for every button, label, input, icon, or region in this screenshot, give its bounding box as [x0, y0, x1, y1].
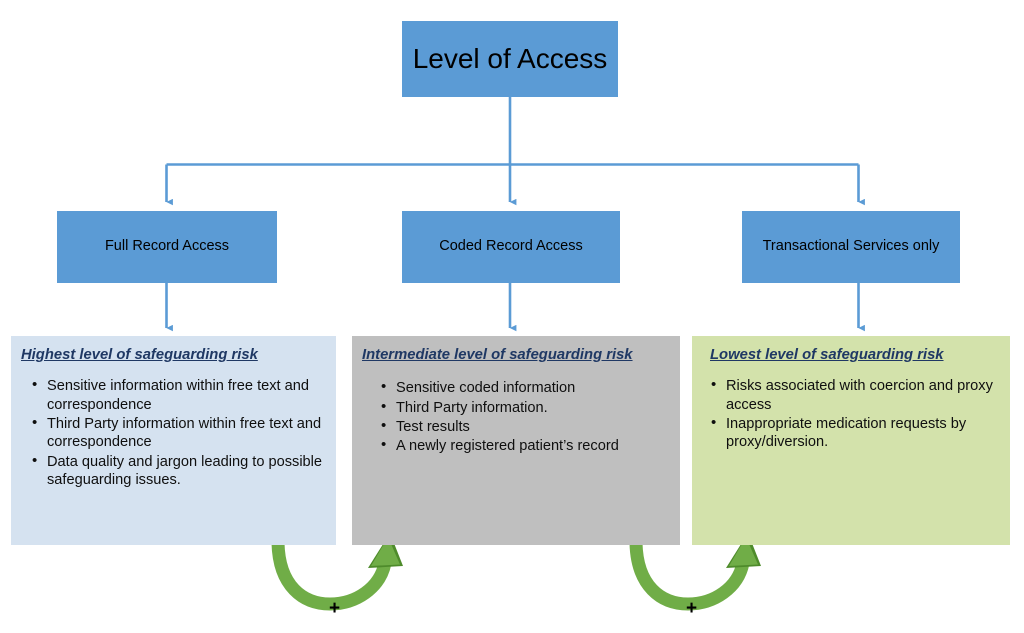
- level-box-label: Coded Record Access: [439, 238, 582, 255]
- level-box-label: Full Record Access: [105, 238, 229, 255]
- risk-bullet-list: Sensitive information within free text a…: [21, 377, 326, 489]
- risk-panel-heading: Intermediate level of safeguarding risk: [362, 346, 670, 365]
- risk-panel-lowest: Lowest level of safeguarding risk Risks …: [692, 336, 1010, 545]
- list-item: Data quality and jargon leading to possi…: [47, 453, 326, 490]
- list-item: Inappropriate medication requests by pro…: [726, 415, 1000, 452]
- level-box-transactional-services-only: Transactional Services only: [742, 211, 960, 283]
- risk-bullet-list: Risks associated with coercion and proxy…: [702, 377, 1000, 452]
- list-item: Sensitive coded information: [396, 379, 670, 397]
- list-item: Test results: [396, 418, 670, 436]
- risk-panel-intermediate: Intermediate level of safeguarding risk …: [352, 336, 680, 545]
- level-box-label: Transactional Services only: [763, 238, 940, 255]
- cumulative-plus-marker-1: +: [329, 599, 340, 618]
- risk-panel-heading: Lowest level of safeguarding risk: [710, 346, 1000, 365]
- risk-bullet-list: Sensitive coded information Third Party …: [362, 379, 670, 456]
- risk-panel-highest: Highest level of safeguarding risk Sensi…: [11, 336, 336, 545]
- list-item: Third Party information.: [396, 399, 670, 417]
- diagram-canvas: Level of Access Full Record Access Coded…: [0, 0, 1024, 633]
- cumulative-plus-marker-2: +: [686, 599, 697, 618]
- risk-panel-heading: Highest level of safeguarding risk: [21, 346, 326, 365]
- level-box-full-record-access: Full Record Access: [57, 211, 277, 283]
- list-item: Risks associated with coercion and proxy…: [726, 377, 1000, 414]
- list-item: A newly registered patient’s record: [396, 437, 670, 455]
- level-box-coded-record-access: Coded Record Access: [402, 211, 620, 283]
- list-item: Third Party information within free text…: [47, 415, 326, 452]
- list-item: Sensitive information within free text a…: [47, 377, 326, 414]
- level-of-access-title-box: Level of Access: [402, 21, 618, 97]
- page-title: Level of Access: [413, 42, 608, 76]
